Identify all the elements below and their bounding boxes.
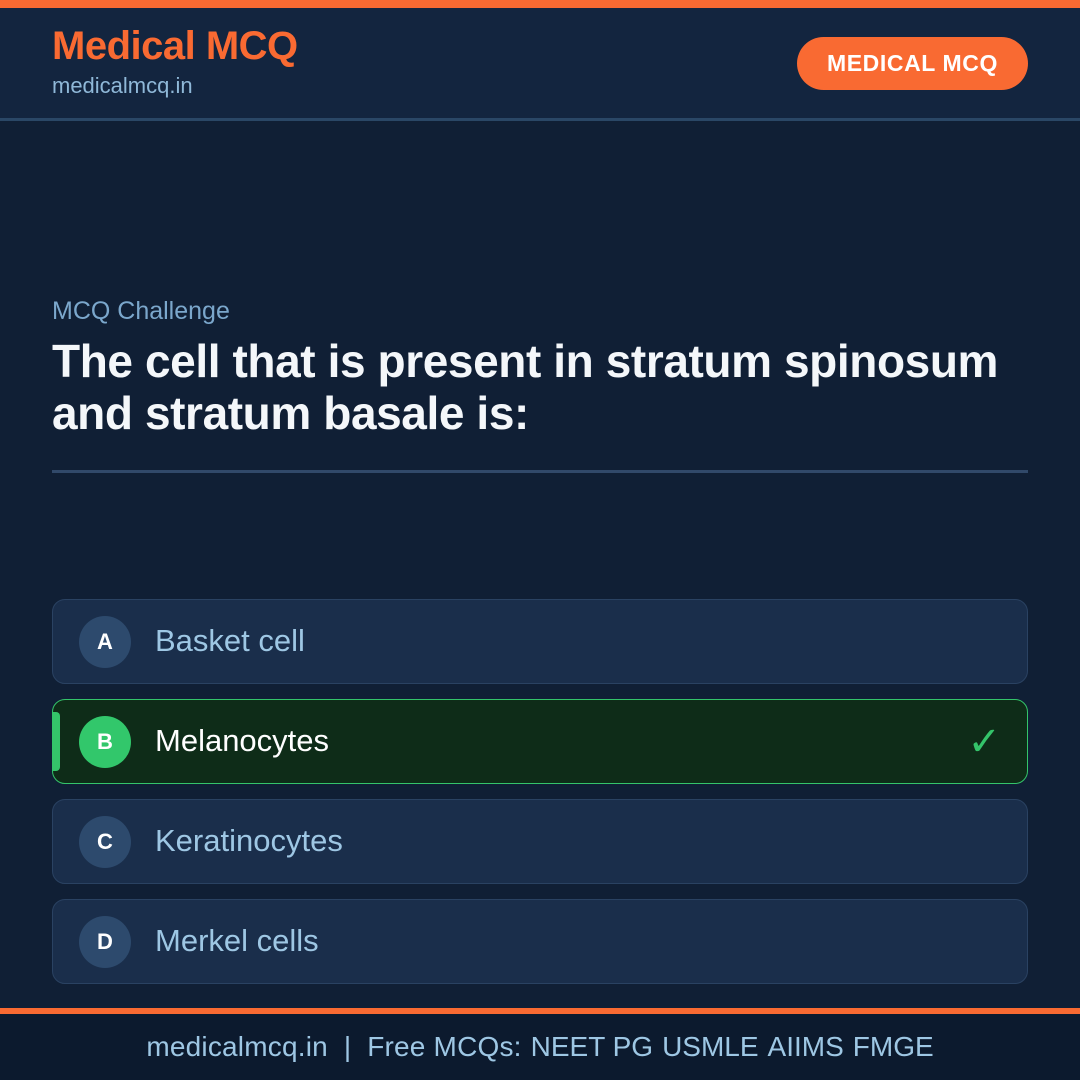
footer-site[interactable]: medicalmcq.in <box>146 1031 328 1063</box>
option-b[interactable]: B Melanocytes ✓ <box>52 699 1028 784</box>
question-text: The cell that is present in stratum spin… <box>52 336 1028 440</box>
option-label: Merkel cells <box>155 924 319 958</box>
header-badge: MEDICAL MCQ <box>797 37 1028 90</box>
option-d[interactable]: D Merkel cells <box>52 899 1028 984</box>
footer: medicalmcq.in | Free MCQs: NEET PG USMLE… <box>0 1014 1080 1080</box>
main-content: MCQ Challenge The cell that is present i… <box>0 121 1080 1008</box>
footer-tag-fmge[interactable]: FMGE <box>844 1031 934 1063</box>
option-label: Keratinocytes <box>155 824 343 858</box>
question-divider <box>52 470 1028 473</box>
footer-prefix: Free MCQs: <box>367 1031 521 1063</box>
option-letter-badge: A <box>79 616 131 668</box>
options-list: A Basket cell B Melanocytes ✓ C Keratino… <box>52 599 1028 984</box>
footer-tag-usmle[interactable]: USMLE <box>653 1031 758 1063</box>
footer-tag-neet-pg[interactable]: NEET PG <box>522 1031 653 1063</box>
brand-subtitle: medicalmcq.in <box>52 69 298 102</box>
question-kicker: MCQ Challenge <box>52 296 1028 326</box>
check-icon: ✓ <box>967 722 1001 762</box>
brand: Medical MCQ medicalmcq.in <box>52 25 298 102</box>
footer-tag-aiims[interactable]: AIIMS <box>759 1031 844 1063</box>
option-letter-badge: C <box>79 816 131 868</box>
option-label: Melanocytes <box>155 724 329 758</box>
top-accent-bar <box>0 0 1080 8</box>
option-letter-badge: B <box>79 716 131 768</box>
mcq-card: Medical MCQ medicalmcq.in MEDICAL MCQ MC… <box>0 0 1080 1080</box>
option-label: Basket cell <box>155 624 305 658</box>
option-c[interactable]: C Keratinocytes <box>52 799 1028 884</box>
option-letter-badge: D <box>79 916 131 968</box>
option-accent-bar <box>53 712 60 771</box>
footer-separator: | <box>328 1031 367 1063</box>
header: Medical MCQ medicalmcq.in MEDICAL MCQ <box>0 8 1080 121</box>
question-block: MCQ Challenge The cell that is present i… <box>52 296 1028 473</box>
option-a[interactable]: A Basket cell <box>52 599 1028 684</box>
brand-title: Medical MCQ <box>52 25 298 67</box>
